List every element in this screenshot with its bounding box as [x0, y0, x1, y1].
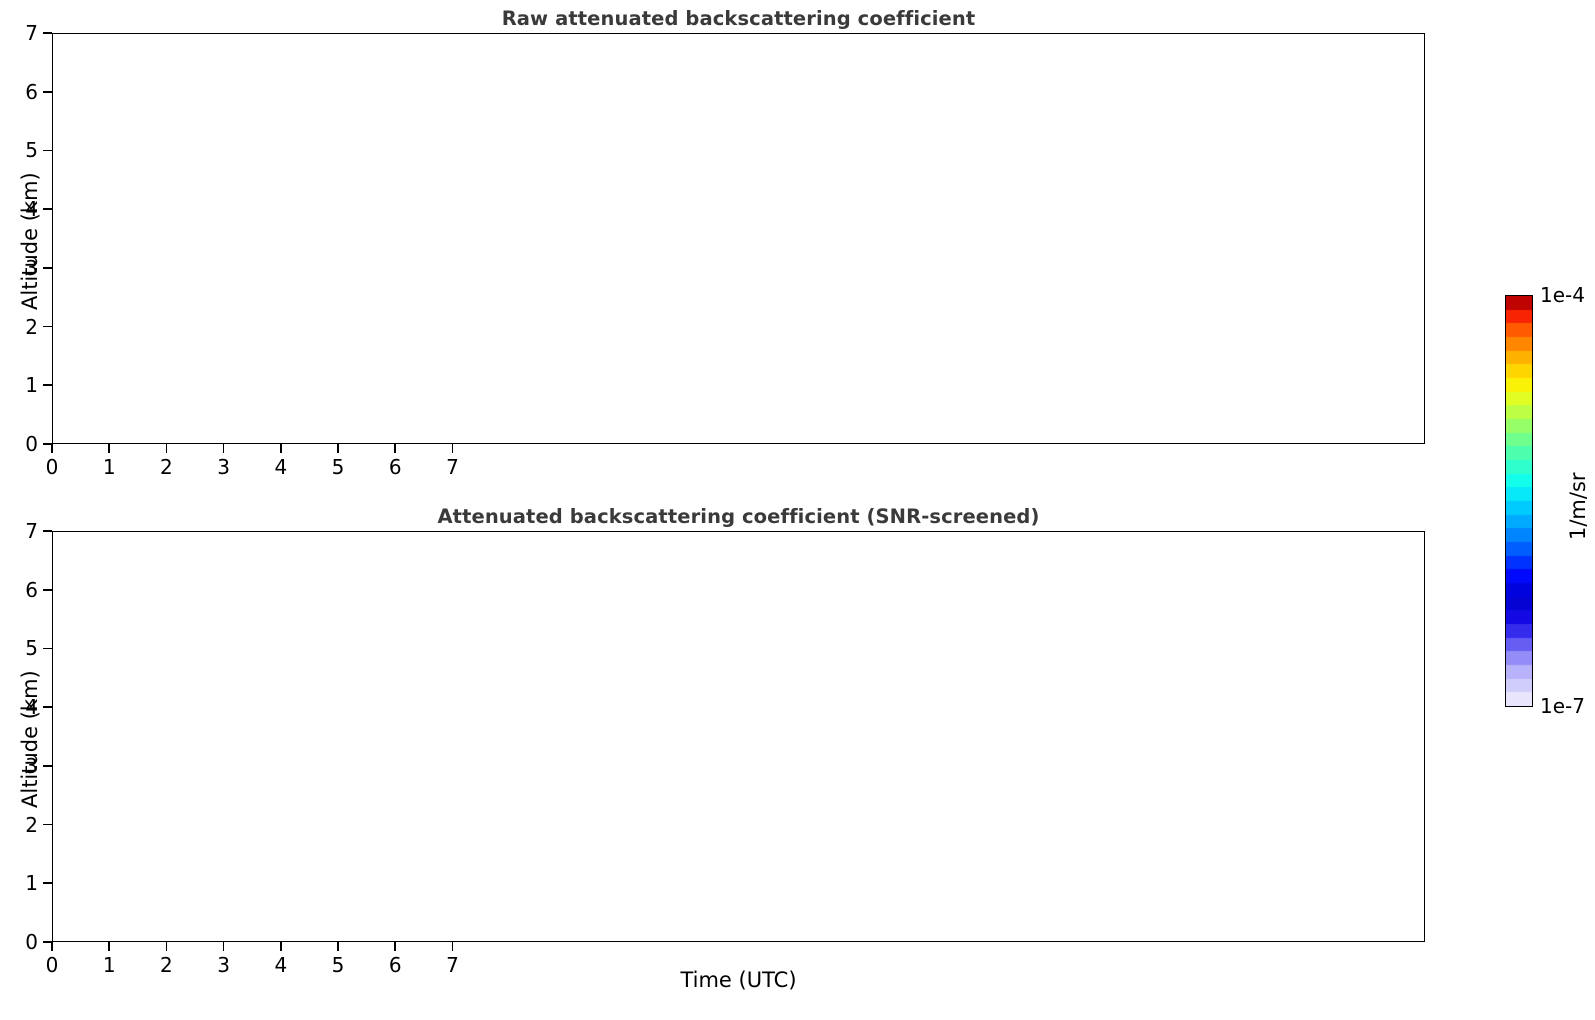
x-tick-label-screened-2: 2 — [146, 955, 186, 975]
y-tick-label-raw-3: 3 — [6, 258, 38, 278]
x-axis-label: Time (UTC) — [52, 968, 1425, 992]
y-tick-screened-2 — [43, 824, 52, 826]
y-tick-screened-7 — [43, 530, 52, 532]
y-tick-screened-5 — [43, 648, 52, 650]
y-axis-label-raw: Altitude (km) — [18, 172, 42, 310]
x-tick-label-raw-1: 1 — [89, 457, 129, 477]
colorbar-max-label: 1e-4 — [1540, 285, 1585, 305]
x-tick-raw-6 — [394, 444, 396, 453]
x-tick-label-raw-5: 5 — [318, 457, 358, 477]
y-tick-label-screened-5: 5 — [6, 638, 38, 658]
y-tick-label-screened-6: 6 — [6, 580, 38, 600]
colorbar-gradient — [1506, 296, 1532, 706]
x-tick-label-screened-5: 5 — [318, 955, 358, 975]
x-tick-label-screened-3: 3 — [204, 955, 244, 975]
colorbar-label: 1/m/sr — [1566, 472, 1590, 540]
x-tick-label-raw-3: 3 — [204, 457, 244, 477]
y-tick-screened-3 — [43, 765, 52, 767]
y-tick-label-raw-0: 0 — [6, 434, 38, 454]
x-tick-raw-5 — [337, 444, 339, 453]
y-tick-screened-6 — [43, 589, 52, 591]
x-tick-raw-3 — [223, 444, 225, 453]
x-tick-label-screened-6: 6 — [375, 955, 415, 975]
y-tick-raw-3 — [43, 267, 52, 269]
lidar-figure: Raw attenuated backscattering coefficien… — [0, 0, 1595, 1020]
y-axis-label-screened: Altitude (km) — [18, 670, 42, 808]
colorbar — [1505, 295, 1533, 707]
panel-title-raw: Raw attenuated backscattering coefficien… — [52, 7, 1425, 30]
x-tick-raw-1 — [108, 444, 110, 453]
y-tick-raw-1 — [43, 384, 52, 386]
x-tick-label-screened-0: 0 — [32, 955, 72, 975]
x-tick-raw-4 — [280, 444, 282, 453]
y-tick-screened-1 — [43, 882, 52, 884]
x-tick-label-raw-7: 7 — [432, 457, 472, 477]
x-tick-screened-4 — [280, 942, 282, 951]
x-tick-label-screened-4: 4 — [261, 955, 301, 975]
x-tick-label-raw-2: 2 — [146, 457, 186, 477]
x-tick-raw-7 — [452, 444, 454, 453]
panel-title-screened: Attenuated backscattering coefficient (S… — [52, 505, 1425, 528]
x-tick-screened-5 — [337, 942, 339, 951]
panel-frame-screened — [52, 531, 1425, 942]
y-tick-raw-5 — [43, 150, 52, 152]
y-tick-label-screened-7: 7 — [6, 521, 38, 541]
y-tick-label-raw-4: 4 — [6, 199, 38, 219]
colorbar-min-label: 1e-7 — [1540, 696, 1585, 716]
x-tick-label-raw-4: 4 — [261, 457, 301, 477]
plot-panel-screened — [52, 531, 1425, 942]
x-tick-screened-3 — [223, 942, 225, 951]
y-tick-raw-7 — [43, 32, 52, 34]
x-tick-label-screened-7: 7 — [432, 955, 472, 975]
y-tick-label-raw-2: 2 — [6, 317, 38, 337]
y-tick-raw-6 — [43, 91, 52, 93]
y-tick-screened-4 — [43, 706, 52, 708]
y-tick-raw-2 — [43, 326, 52, 328]
x-tick-raw-2 — [166, 444, 168, 453]
y-tick-label-screened-4: 4 — [6, 697, 38, 717]
x-tick-label-raw-6: 6 — [375, 457, 415, 477]
y-tick-raw-4 — [43, 208, 52, 210]
y-tick-label-raw-7: 7 — [6, 23, 38, 43]
x-tick-screened-0 — [51, 942, 53, 951]
y-tick-label-screened-0: 0 — [6, 932, 38, 952]
y-tick-label-screened-1: 1 — [6, 873, 38, 893]
x-tick-screened-6 — [394, 942, 396, 951]
x-tick-raw-0 — [51, 444, 53, 453]
y-tick-label-raw-5: 5 — [6, 140, 38, 160]
panel-frame-raw — [52, 33, 1425, 444]
plot-panel-raw — [52, 33, 1425, 444]
x-tick-screened-2 — [166, 942, 168, 951]
y-tick-label-raw-1: 1 — [6, 375, 38, 395]
y-tick-label-screened-3: 3 — [6, 756, 38, 776]
x-tick-label-screened-1: 1 — [89, 955, 129, 975]
x-tick-label-raw-0: 0 — [32, 457, 72, 477]
x-tick-screened-1 — [108, 942, 110, 951]
y-tick-label-raw-6: 6 — [6, 82, 38, 102]
x-tick-screened-7 — [452, 942, 454, 951]
y-tick-label-screened-2: 2 — [6, 815, 38, 835]
